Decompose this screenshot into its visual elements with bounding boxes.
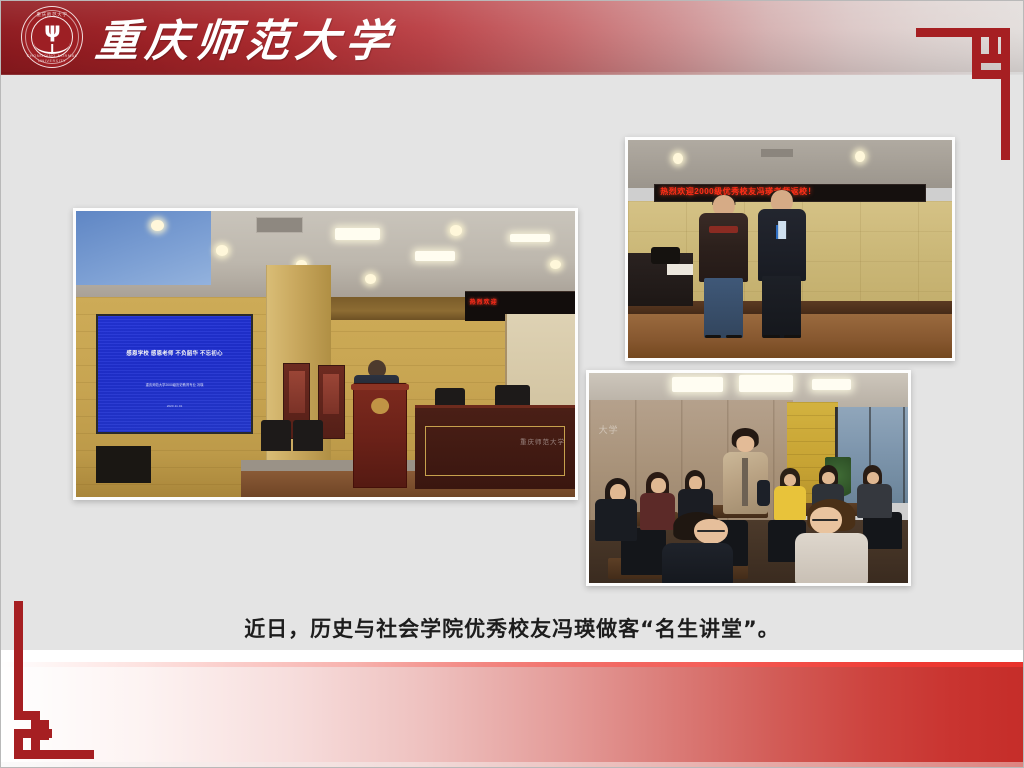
person-shoe [763,335,779,339]
ceiling [628,140,952,188]
person-jeans [704,278,743,338]
screen-scanlines [98,316,251,432]
student-body [795,533,868,583]
ceiling-downlight [450,225,462,235]
ceiling-blue-section [76,211,211,285]
ceiling-light [335,228,380,239]
standing-student-head [737,436,754,452]
photo-audience-students[interactable]: 大学 [586,370,911,586]
ceiling-vent [761,149,793,158]
footer-highlight-line [0,662,1024,667]
student-glasses-icon [812,519,838,521]
person-suit [758,209,807,280]
foreground-student-left [659,512,736,583]
ceiling-light [415,251,455,261]
seal-glyph: ψ [22,20,82,41]
door-glass [289,371,305,413]
chair [651,247,680,264]
person-jacket [699,213,748,282]
page-header: 重庆师范大学 ψ CHONGQING NORMAL UNIVERSITY 重庆师… [0,0,1024,74]
person-lanyard [776,225,778,239]
student-head [689,476,702,490]
led-banner-text: 热烈欢迎 [470,297,498,306]
ceiling-downlight [855,151,865,162]
jacket-stripe [709,226,738,233]
footer-bottom-edge [0,762,1024,768]
top-right-corner-ornament-icon [902,0,1024,160]
ceiling-light [510,234,550,243]
seal-bottom-text: CHONGQING NORMAL UNIVERSITY [22,53,82,63]
name-card [667,264,693,275]
podium [353,383,407,488]
ceiling-vent [256,217,303,233]
ceiling-downlight [673,153,683,164]
bottom-left-corner-ornament-icon [0,593,130,768]
projection-screen: 感恩学校 感恩老师 不负韶华 不忘初心 重庆师范大学2000级历史教育专业 冯瑛… [96,314,253,434]
coat-placket [742,458,748,506]
photo-watermark: 大学 [599,423,619,436]
podium-top-edge [351,384,410,390]
university-wordmark: 重庆师范大学 [93,8,399,66]
person-shirt [778,221,786,239]
photo-two-men-content: 热烈欢迎2000级优秀校友冯瑛老师返校！ [628,140,952,358]
person-trousers [762,276,801,338]
ceiling-downlight [216,245,228,255]
ceiling-downlight [365,274,376,284]
student-head [867,472,880,485]
podium-seal-icon [371,398,389,414]
table-gold-trim [425,426,566,476]
photo-two-men-group[interactable]: 热烈欢迎2000级优秀校友冯瑛老师返校！ [625,137,955,361]
slide-page: 重庆师范大学 ψ CHONGQING NORMAL UNIVERSITY 重庆师… [0,0,1024,768]
student-glasses-icon [697,530,725,532]
wall-speaker-panel [96,446,151,483]
slide-caption: 近日，历史与社会学院优秀校友冯瑛做客“名生讲堂”。 [0,606,1024,650]
ceiling-light-panel [672,377,723,392]
shoulder-bag [757,480,770,506]
student-body [662,543,732,583]
ceiling-light-panel [739,375,793,392]
photo-audience-content: 大学 [589,373,908,583]
person-shoe [784,335,800,339]
photo-watermark: 重庆师范大学 [520,436,565,446]
footer-gradient-band [0,662,1024,762]
photo-lecture-hall-speaker[interactable]: 感恩学校 感恩老师 不负韶华 不忘初心 重庆师范大学2000级历史教育专业 冯瑛… [73,208,578,500]
ceiling-light-panel [812,379,850,390]
person-shoe [705,335,721,339]
student-body [595,499,636,541]
header-underline [0,72,1024,75]
hall-chair [261,420,291,451]
door-glass [323,374,339,414]
seal-top-text: 重庆师范大学 [22,12,82,18]
student-head [651,478,665,493]
head-table [415,405,575,488]
ceiling-downlight [151,220,164,231]
person-shoe [726,335,742,339]
person-left [699,195,748,339]
person-right [758,190,807,338]
student-head [822,472,835,485]
foreground-student-right [793,499,870,583]
university-seal-icon: 重庆师范大学 ψ CHONGQING NORMAL UNIVERSITY [21,6,83,68]
photo-lecture-hall-content: 感恩学校 感恩老师 不负韶华 不忘初心 重庆师范大学2000级历史教育专业 冯瑛… [76,211,575,497]
hall-chair [293,420,323,451]
